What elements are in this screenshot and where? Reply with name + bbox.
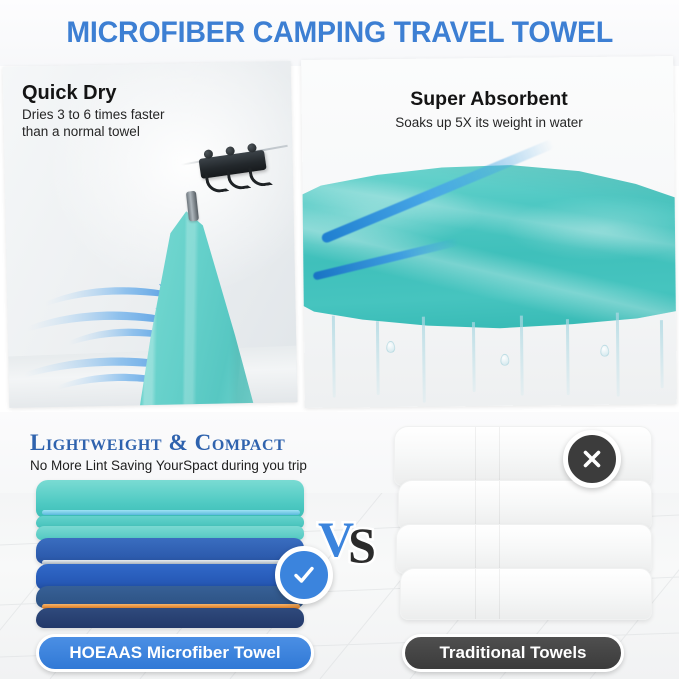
- versus-label: VS: [318, 514, 392, 576]
- water-droplet: [500, 354, 509, 366]
- super-absorbent-heading: Super Absorbent Soaks up 5X its weight i…: [303, 88, 675, 130]
- traditional-towel-stack: [394, 426, 654, 632]
- towel-seam: [499, 525, 500, 573]
- traditional-towel-label: Traditional Towels: [402, 634, 624, 672]
- water-drip: [422, 317, 426, 403]
- quick-dry-title: Quick Dry: [22, 82, 252, 104]
- microfiber-towel-label: HOEAAS Microfiber Towel: [36, 634, 314, 672]
- towel-seam: [475, 525, 476, 573]
- microfiber-towel-stack: [36, 480, 308, 626]
- list-item: [396, 524, 652, 574]
- x-badge: [563, 430, 621, 488]
- water-drip: [472, 322, 476, 392]
- list-item: [398, 480, 652, 530]
- super-absorbent-title: Super Absorbent: [303, 88, 675, 111]
- towel-seam: [475, 481, 476, 529]
- water-drip: [616, 313, 620, 397]
- hook-knob-icon: [247, 143, 257, 153]
- wet-towel: [301, 160, 677, 332]
- towel-seam: [499, 481, 500, 529]
- close-icon: [580, 447, 604, 471]
- quick-dry-subtitle-line2: than a normal towel: [22, 124, 252, 141]
- comparison-section: Lightweight & Compact No More Lint Savin…: [0, 412, 679, 679]
- page-title: MICROFIBER CAMPING TRAVEL TOWEL: [66, 16, 613, 50]
- water-drip: [520, 316, 524, 396]
- towel-seam: [499, 569, 500, 619]
- check-icon: [292, 563, 316, 587]
- towel-seam: [475, 427, 476, 485]
- list-item: [36, 608, 304, 628]
- list-item: [400, 568, 652, 620]
- water-drip: [660, 320, 664, 388]
- towel-seam: [499, 427, 500, 485]
- water-drip: [566, 319, 570, 395]
- wall-hook-rack: [199, 150, 267, 179]
- water-drip: [376, 321, 380, 395]
- hook-knob-icon: [203, 149, 213, 159]
- quick-dry-heading: Quick Dry Dries 3 to 6 times faster than…: [22, 82, 252, 141]
- comparison-title: Lightweight & Compact: [30, 430, 360, 456]
- versus-s: S: [348, 520, 374, 570]
- comparison-heading: Lightweight & Compact No More Lint Savin…: [30, 430, 360, 473]
- towel-trim: [42, 510, 300, 515]
- hook-knob-icon: [225, 146, 235, 156]
- super-absorbent-subtitle: Soaks up 5X its weight in water: [303, 115, 675, 130]
- water-droplet: [600, 345, 609, 357]
- quick-dry-subtitle-line1: Dries 3 to 6 times faster: [22, 107, 252, 124]
- comparison-subtitle: No More Lint Saving YourSpact during you…: [30, 458, 360, 473]
- water-drip: [332, 316, 336, 398]
- water-droplet: [386, 341, 395, 353]
- towel-seam: [475, 569, 476, 619]
- product-infographic: MICROFIBER CAMPING TRAVEL TOWEL: [0, 0, 679, 679]
- versus-v: V: [318, 511, 352, 567]
